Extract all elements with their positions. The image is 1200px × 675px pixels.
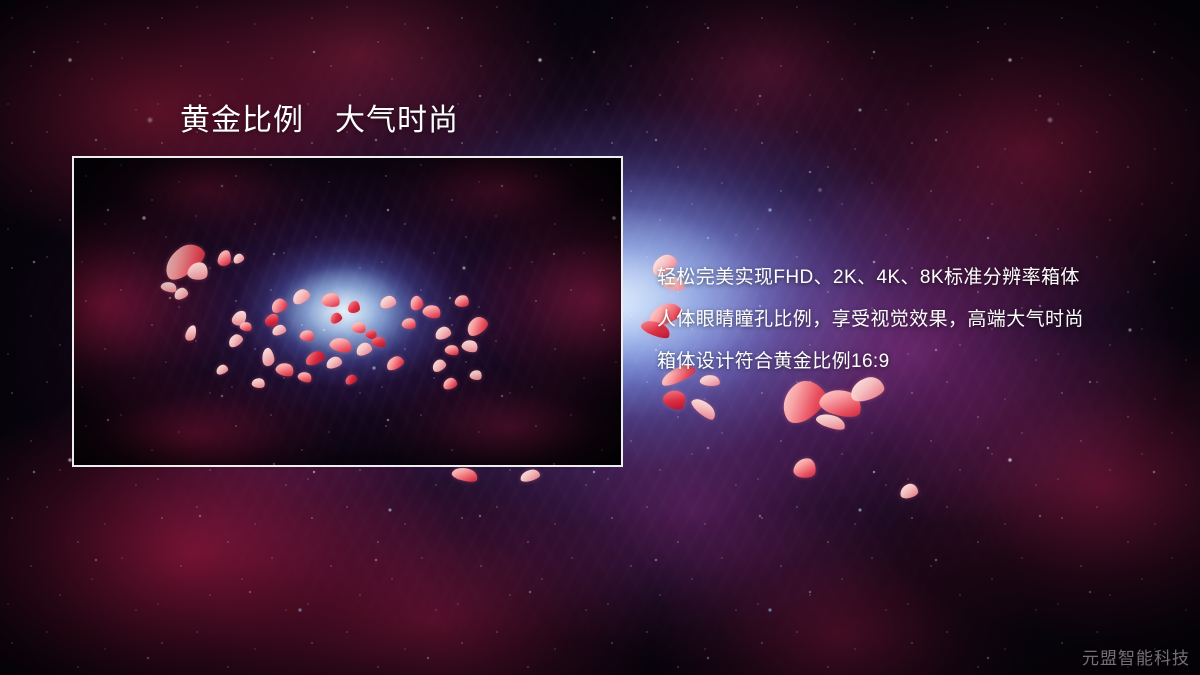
slide-canvas: 黄金比例 大气时尚 轻松完美实现FHD、2K、4K、8K标准分辨率箱体 人体眼睛… (0, 0, 1200, 675)
page-title: 黄金比例 大气时尚 (180, 103, 459, 138)
petal (792, 456, 817, 480)
petal (689, 394, 719, 422)
watermark-brand: 元盟智能科技 (1082, 644, 1190, 669)
body-copy-line-3: 箱体设计符合黄金比例16:9 (657, 341, 1157, 383)
picture-content (74, 158, 621, 465)
body-copy-line-2: 人体眼睛瞳孔比例，享受视觉效果，高端大气时尚 (657, 299, 1157, 341)
picture-vignette (74, 158, 621, 465)
petal (817, 384, 865, 422)
body-copy-line-1: 轻松完美实现FHD、2K、4K、8K标准分辨率箱体 (657, 257, 1157, 299)
petal (519, 468, 541, 483)
petal (815, 410, 848, 432)
framed-picture (72, 156, 623, 467)
petal (451, 465, 480, 485)
body-copy-block: 轻松完美实现FHD、2K、4K、8K标准分辨率箱体 人体眼睛瞳孔比例，享受视觉效… (657, 257, 1157, 383)
petal (661, 385, 690, 413)
petal (899, 483, 919, 500)
